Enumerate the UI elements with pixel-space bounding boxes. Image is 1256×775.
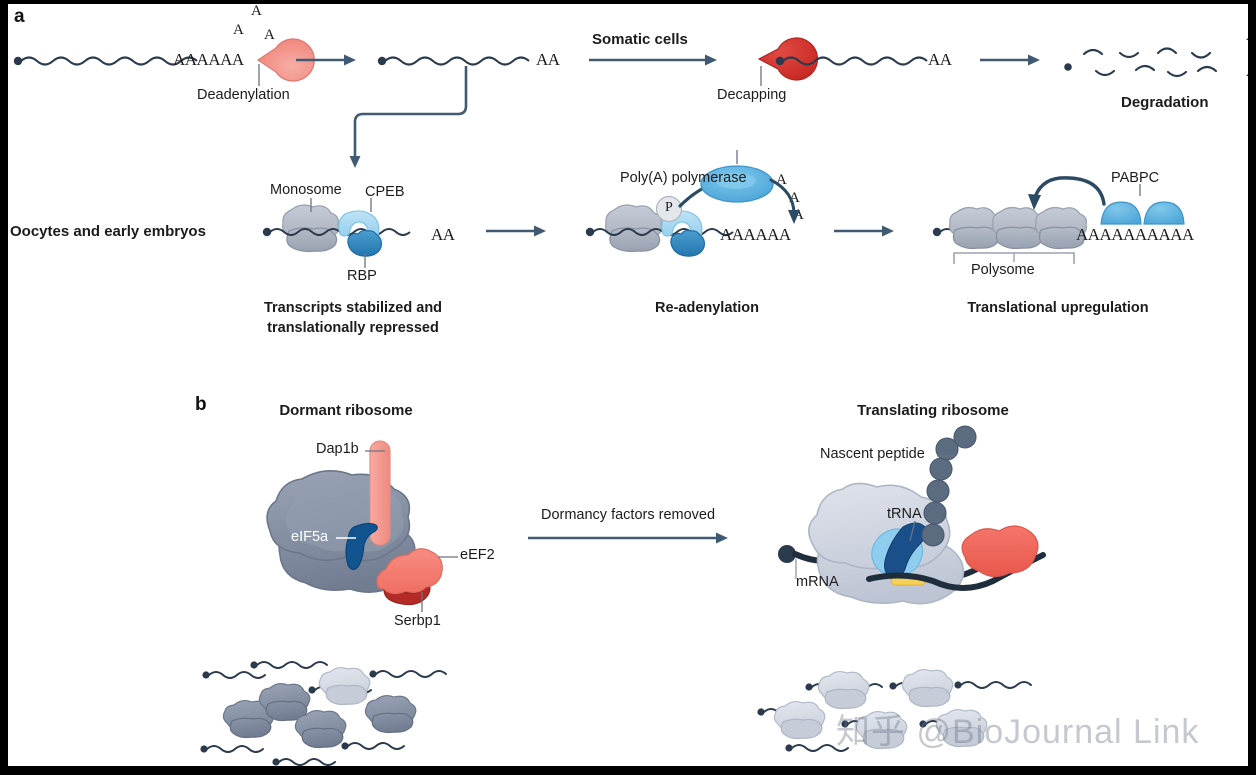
mrna-strand-3-decapped (774, 44, 939, 84)
step1-monosome-complex (263, 200, 443, 260)
arrow-step1-to-step2 (486, 223, 548, 239)
polya-start: AAAAAA (173, 50, 244, 70)
translating-ribosome-title: Translating ribosome (793, 402, 1073, 419)
eef2-leader-line (438, 554, 460, 560)
degradation-adenosine-2: A (1246, 64, 1248, 81)
degradation-fragments (1058, 34, 1244, 92)
decapping-leader-line (758, 66, 764, 88)
deadenylation-label: Deadenylation (197, 87, 290, 104)
dap1b-label: Dap1b (316, 441, 359, 458)
nascent-peptide-label: Nascent peptide (820, 446, 925, 463)
panel-a-letter: a (14, 6, 25, 28)
oocyte-branch-connector (343, 66, 478, 176)
dap1b-leader-line (365, 448, 387, 454)
polysome-label: Polysome (971, 262, 1035, 279)
somatic-cells-label: Somatic cells (592, 31, 688, 48)
trna-leader-line (908, 521, 918, 543)
serbp1-label: Serbp1 (394, 613, 441, 630)
arrow-somatic-branch (589, 52, 719, 68)
arrow-adenosine-addition (768, 176, 810, 230)
nascent-peptide-leader-line (937, 453, 957, 459)
figure-canvas: a AAAAAA Deadenylation A A A AA Somatic … (8, 4, 1248, 766)
step3-caption: Translational upregulation (933, 300, 1183, 317)
rbp-label: RBP (347, 268, 377, 285)
polyA-polymerase-label: Poly(A) polymerase (620, 170, 747, 187)
free-adenosine-2: A (264, 27, 275, 44)
serbp1-leader-line (419, 592, 425, 614)
polya-after-deadenylation: AA (536, 50, 560, 70)
arrow-pabpc-binding (1026, 170, 1112, 216)
eif5a-label: eIF5a (291, 529, 328, 546)
step2-caption: Re-adenylation (597, 300, 817, 317)
panel-b-letter: b (195, 394, 207, 416)
degradation-adenosine-1: A (1246, 28, 1248, 45)
dormant-ribosome-title: Dormant ribosome (216, 402, 476, 419)
deadenylation-leader-line (256, 64, 262, 88)
monosome-label: Monosome (270, 182, 342, 199)
figure-root: a AAAAAA Deadenylation A A A AA Somatic … (0, 0, 1256, 775)
pabpc-label: PABPC (1111, 170, 1159, 187)
free-adenosine-1: A (233, 22, 244, 39)
polymerase-leader-line (734, 150, 740, 166)
monosome-leader-line (308, 198, 314, 214)
degradation-label: Degradation (1121, 94, 1209, 111)
eef2-label: eEF2 (460, 547, 495, 564)
dormancy-factors-removed-label: Dormancy factors removed (508, 507, 748, 524)
arrow-step2-to-step3 (834, 223, 896, 239)
decapping-label: Decapping (717, 87, 786, 104)
oocytes-early-embryos-label: Oocytes and early embryos (10, 223, 206, 240)
mrna-label: mRNA (796, 574, 839, 591)
translating-ribosome-pool (753, 652, 1113, 766)
phosphate-label: P (665, 200, 673, 216)
free-adenosine-3: A (251, 4, 262, 20)
step1-caption: Transcripts stabilized and translational… (238, 299, 468, 338)
polya-decapped: AA (928, 50, 952, 70)
cpeb-label: CPEB (365, 184, 405, 201)
eif5a-leader-line (336, 535, 358, 541)
step1-polya-tail: AA (431, 225, 455, 245)
dormant-ribosome-pool (188, 652, 528, 766)
arrow-dormancy-removed (528, 530, 732, 546)
arrow-to-degradation (980, 52, 1042, 68)
